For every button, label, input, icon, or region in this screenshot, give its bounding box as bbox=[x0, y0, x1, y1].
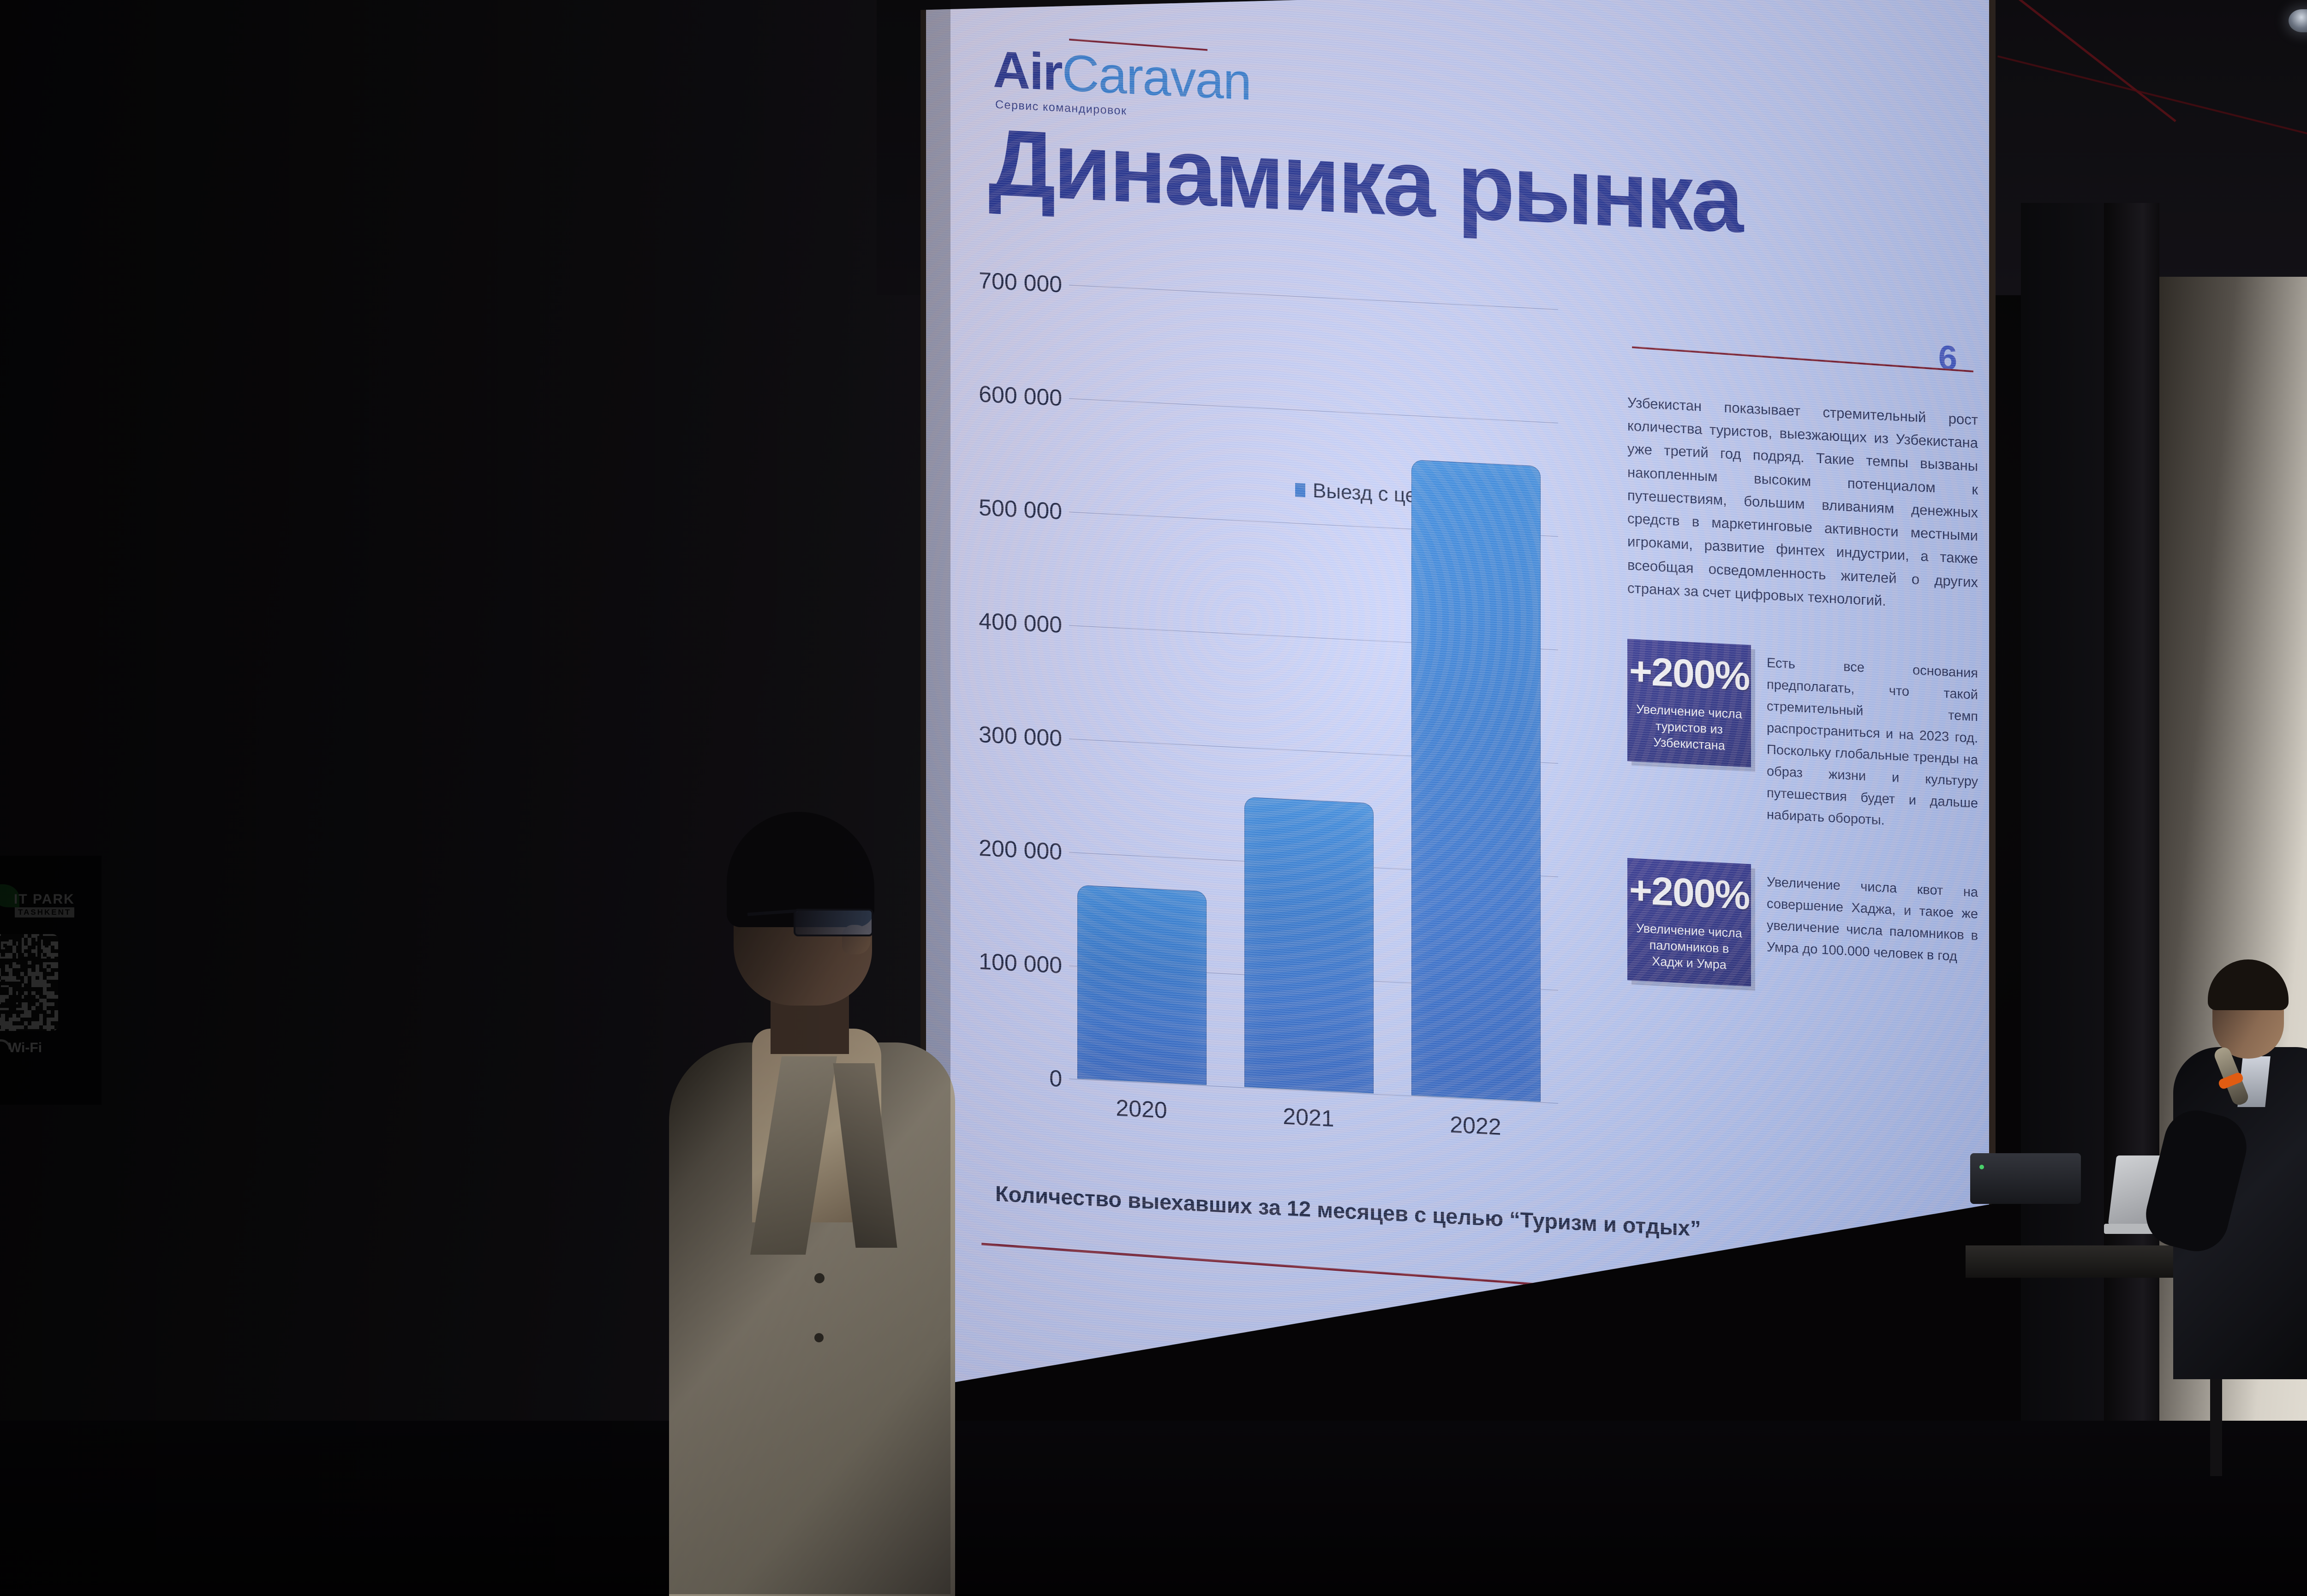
right-column: Узбекистан показывает стремительный рост… bbox=[1627, 391, 1978, 998]
av-console bbox=[1970, 1153, 2081, 1204]
y-tick-label: 0 bbox=[1049, 1065, 1062, 1092]
blazer-button-2 bbox=[814, 1333, 824, 1342]
bar-chart: Выезд с целью "туризм" 700 000 600 000 5… bbox=[954, 279, 1586, 1187]
kpi-value: +200% bbox=[1629, 651, 1749, 697]
logo-wordmark: AirCaravan bbox=[993, 43, 1251, 108]
kpi-value: +200% bbox=[1629, 870, 1749, 916]
led-screen: AirCaravan Сервис командировок Динамика … bbox=[920, 0, 1996, 1402]
presenter-foreground bbox=[655, 812, 1006, 1596]
y-tick-label: 500 000 bbox=[979, 494, 1062, 525]
floor bbox=[0, 1421, 2307, 1594]
slide-title: Динамика рынка bbox=[988, 115, 1741, 247]
body-paragraph: Узбекистан показывает стремительный рост… bbox=[1627, 391, 1978, 617]
kpi-badge-tourists: +200% Увеличение числа туристов из Узбек… bbox=[1627, 639, 1751, 768]
bar-2020 bbox=[1077, 885, 1207, 1085]
speaker-background bbox=[2164, 959, 2307, 1375]
bar-2022 bbox=[1411, 460, 1541, 1102]
qr-code bbox=[0, 934, 58, 1031]
pillar bbox=[2104, 203, 2159, 1476]
screen-surface: AirCaravan Сервис командировок Динамика … bbox=[926, 0, 1989, 1396]
chart-caption: Количество выехавших за 12 месяцев с цел… bbox=[995, 1181, 1701, 1241]
logo-caravan: Caravan bbox=[1062, 44, 1251, 111]
speaker-hair bbox=[2208, 959, 2289, 1010]
y-tick-label: 400 000 bbox=[979, 607, 1062, 638]
kpi-badge-pilgrims: +200% Увеличение числа паломников в Хадж… bbox=[1627, 858, 1751, 987]
slide-number: 6 bbox=[1938, 338, 1957, 378]
gridline bbox=[1069, 285, 1558, 310]
kpi-caption: Увеличение числа паломников в Хадж и Умр… bbox=[1633, 920, 1745, 974]
x-tick-label: 2021 bbox=[1283, 1103, 1334, 1132]
y-tick-label: 300 000 bbox=[979, 721, 1062, 752]
it-park-signage: IT PARK TASHKENT Wi-Fi bbox=[0, 856, 102, 1105]
glasses-icon bbox=[794, 909, 873, 936]
plot-area: 2020 2021 2022 bbox=[1069, 285, 1558, 1103]
kpi-description: Увеличение числа квот на совершение Хадж… bbox=[1767, 865, 1978, 969]
it-park-brand: IT PARK bbox=[14, 892, 75, 907]
wifi-label: Wi-Fi bbox=[8, 1040, 42, 1056]
blazer-button bbox=[814, 1273, 825, 1283]
y-tick-label: 700 000 bbox=[979, 267, 1062, 298]
gridline bbox=[1069, 399, 1558, 423]
header-divider bbox=[1632, 346, 1973, 372]
kpi-row-2: +200% Увеличение числа паломников в Хадж… bbox=[1627, 858, 1978, 998]
x-tick-label: 2022 bbox=[1450, 1111, 1501, 1141]
console-led-icon bbox=[1979, 1165, 1984, 1169]
presentation-slide: AirCaravan Сервис командировок Динамика … bbox=[926, 0, 1987, 1396]
kpi-description: Есть все основания предполагать, что так… bbox=[1767, 646, 1978, 836]
conference-room: AirCaravan Сервис командировок Динамика … bbox=[0, 0, 2307, 1594]
it-park-city: TASHKENT bbox=[15, 907, 74, 917]
logo-air: Air bbox=[993, 40, 1062, 101]
bar-2021 bbox=[1244, 797, 1374, 1094]
footer-divider bbox=[981, 1243, 1950, 1316]
kpi-caption: Увеличение числа туристов из Узбекистана bbox=[1633, 701, 1745, 755]
x-tick-label: 2020 bbox=[1116, 1095, 1167, 1124]
y-tick-label: 600 000 bbox=[979, 381, 1062, 411]
kpi-row-1: +200% Увеличение числа туристов из Узбек… bbox=[1627, 639, 1978, 836]
